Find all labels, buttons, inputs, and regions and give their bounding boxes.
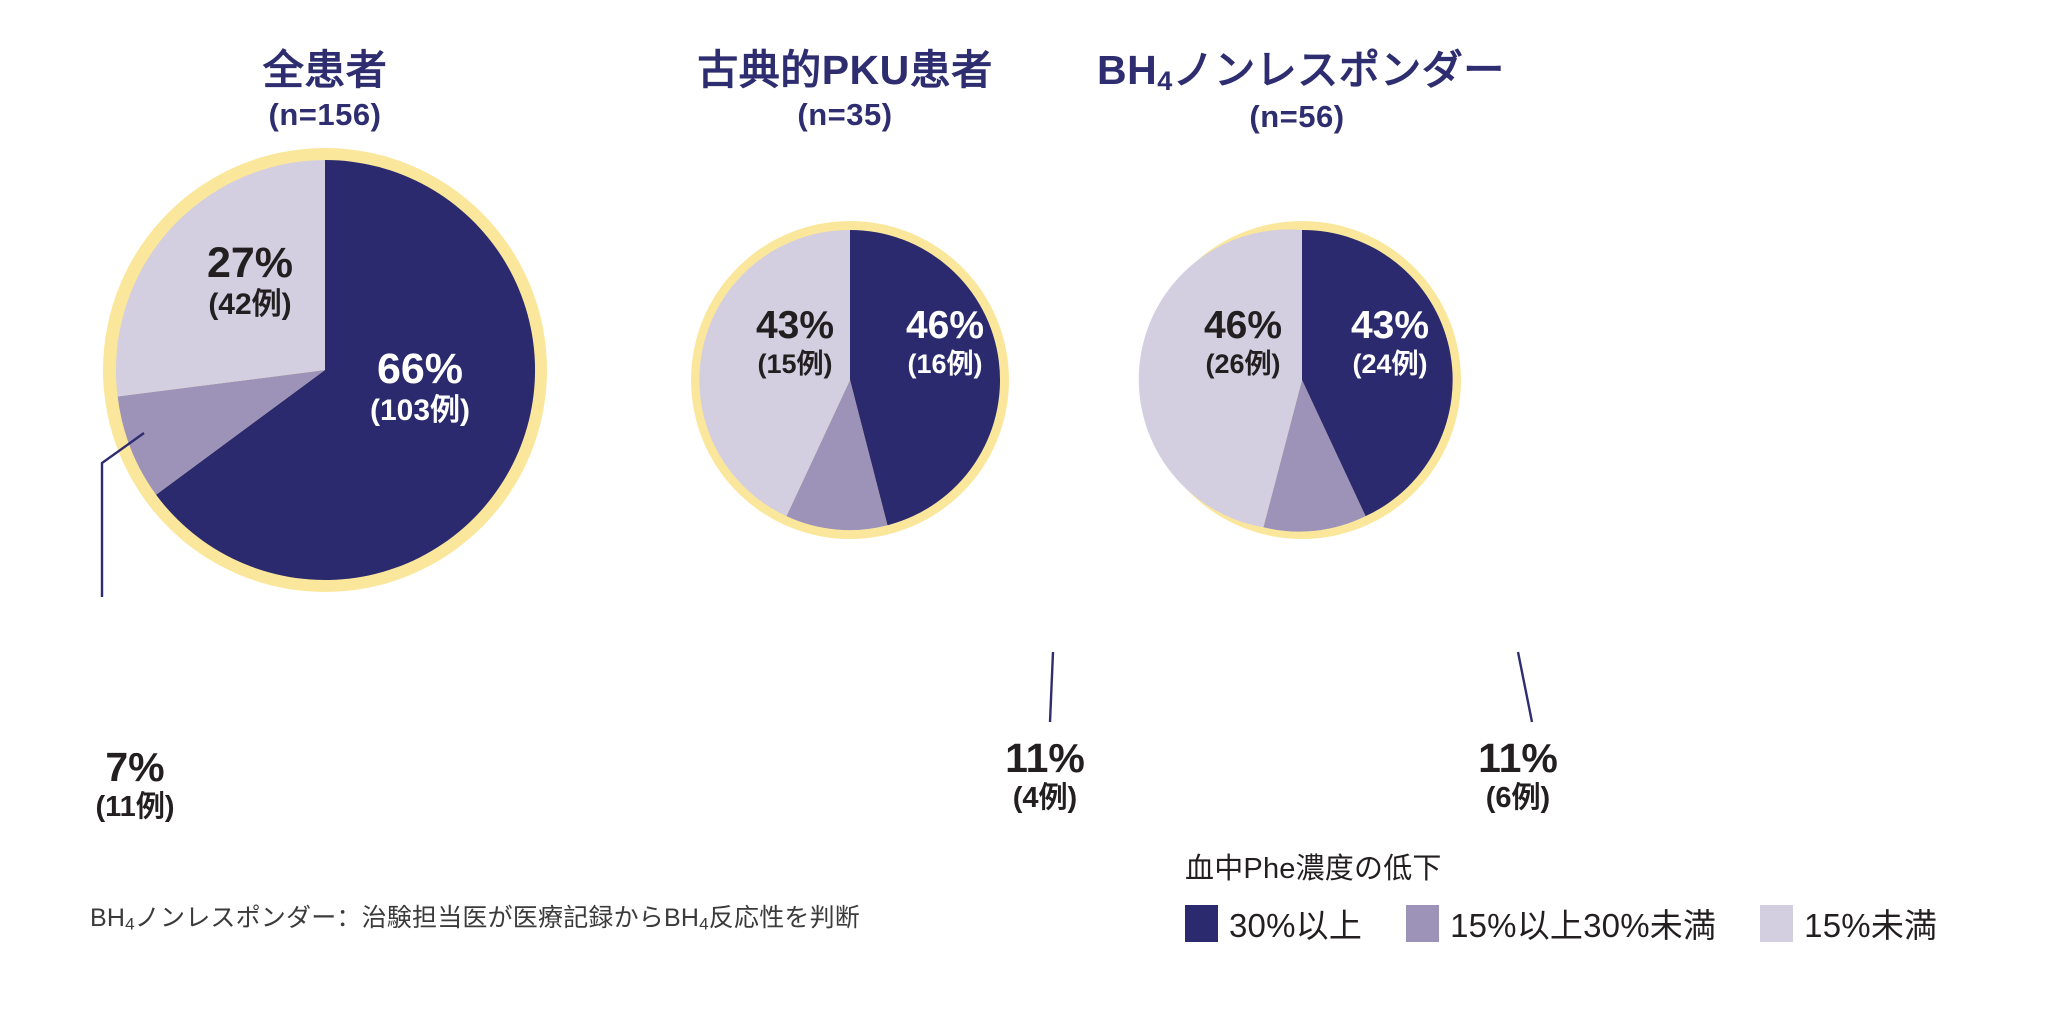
pie3-leader-line-15-to-30 — [1500, 650, 1560, 730]
legend-title: 血中Phe濃度の低下 — [1185, 845, 2025, 887]
chart-title-sub: (n=156) — [125, 98, 525, 133]
pie1-label-15-to-30-count: (11例) — [25, 792, 245, 823]
pie-chart-classical-pku — [685, 215, 1015, 545]
legend-swatch-icon — [1760, 905, 1793, 942]
pie1-label-15-to-30: 7% (11例) — [25, 745, 245, 824]
chart-title-main-subscript: 4 — [1157, 66, 1173, 96]
figure-canvas: 全患者 (n=156) 古典的PKU患者 (n=35) BH4ノンレスポンダー … — [0, 0, 2048, 1032]
leader-path — [1050, 652, 1053, 722]
footnote: BH4ノンレスポンダー：治験担当医が医療記録からBH4反応性を判断 — [90, 898, 860, 934]
pie-svg — [95, 140, 555, 600]
pie2-label-15-to-30-percent: 11% — [935, 736, 1155, 780]
legend-item-label: 15%未満 — [1804, 899, 1937, 947]
chart-title-sub: (n=56) — [1097, 100, 1497, 135]
legend-items: 30%以上 15%以上30%未満 15%未満 — [1185, 899, 2025, 947]
pie1-label-15-to-30-percent: 7% — [25, 745, 245, 789]
leader-path — [1518, 652, 1532, 722]
chart-title-main: 古典的PKU患者 — [645, 48, 1045, 94]
pie-chart-bh4-nonresponder — [1137, 215, 1467, 545]
legend-item-label: 15%以上30%未満 — [1450, 899, 1716, 947]
chart-title-main-rest: ノンレスポンダー — [1173, 47, 1505, 93]
legend-swatch-icon — [1406, 905, 1439, 942]
chart-title-bh4-nonresponder: BH4ノンレスポンダー (n=56) — [1097, 48, 1497, 135]
legend-item-label: 30%以上 — [1229, 899, 1362, 947]
chart-title-sub: (n=35) — [645, 98, 1045, 133]
legend-item-under-15[interactable]: 15%未満 — [1760, 899, 1937, 947]
pie-svg — [1137, 215, 1467, 545]
chart-title-main: BH4ノンレスポンダー — [1097, 48, 1497, 96]
chart-title-all-patients: 全患者 (n=156) — [125, 48, 525, 133]
pie-slice-under-15 — [116, 160, 325, 396]
legend-item-30-or-more[interactable]: 30%以上 — [1185, 899, 1362, 947]
footnote-subscript-1: 4 — [125, 914, 135, 933]
footnote-prefix: BH — [90, 904, 125, 932]
legend-swatch-icon — [1185, 905, 1218, 942]
pie2-label-15-to-30-count: (4例) — [935, 783, 1155, 814]
footnote-mid: ノンレスポンダー：治験担当医が医療記録からBH — [135, 904, 699, 932]
pie2-leader-line-15-to-30 — [1040, 650, 1080, 730]
pie2-label-15-to-30: 11% (4例) — [935, 736, 1155, 815]
pie3-label-15-to-30: 11% (6例) — [1408, 736, 1628, 815]
footnote-suffix: 反応性を判断 — [709, 904, 860, 932]
legend: 血中Phe濃度の低下 30%以上 15%以上30%未満 15%未満 — [1185, 845, 2025, 947]
chart-title-main-prefix: BH — [1097, 47, 1157, 93]
pie-svg — [685, 215, 1015, 545]
pie-chart-all-patients — [95, 140, 555, 600]
chart-title-main: 全患者 — [125, 48, 525, 94]
chart-title-classical-pku: 古典的PKU患者 (n=35) — [645, 48, 1045, 133]
pie3-label-15-to-30-count: (6例) — [1408, 783, 1628, 814]
footnote-subscript-2: 4 — [699, 914, 709, 933]
legend-item-15-to-30[interactable]: 15%以上30%未満 — [1406, 899, 1716, 947]
pie3-label-15-to-30-percent: 11% — [1408, 736, 1628, 780]
